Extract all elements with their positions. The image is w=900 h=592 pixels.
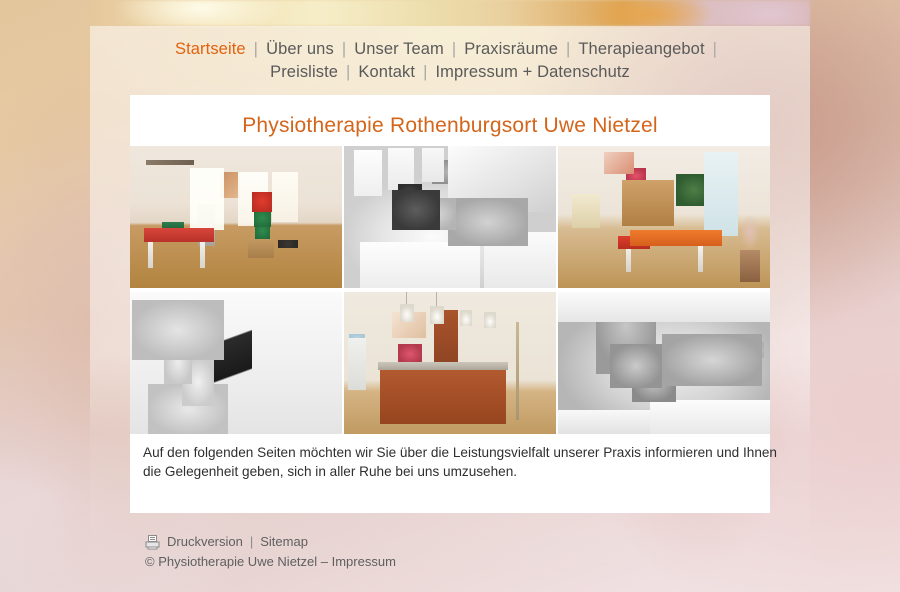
photo-gallery [130,146,770,438]
nav-row-secondary: Preisliste|Kontakt|Impressum + Datenschu… [90,61,810,84]
treatment-room-photo [130,146,342,288]
nav-separator: | [246,40,266,58]
nav-item-therapieangebot[interactable]: Therapieangebot [578,40,704,58]
nail-file-photo [130,292,342,434]
nav-item-kontakt[interactable]: Kontakt [358,63,415,81]
reception-desk-photo [344,292,556,434]
nav-item-startseite[interactable]: Startseite [175,40,246,58]
site-footer: Druckversion | Sitemap © Physiotherapie … [145,532,645,571]
printer-icon [145,535,160,550]
content-panel: Physiotherapie Rothenburgsort Uwe Nietze… [130,95,770,513]
nav-separator: | [705,40,725,58]
main-navigation: Startseite|Über uns|Unser Team|Praxisräu… [90,26,810,84]
nav-item-praxisraeume[interactable]: Praxisräume [464,40,558,58]
nav-separator: | [334,40,354,58]
back-massage-photo [344,146,556,288]
footer-links-row: Druckversion | Sitemap [145,532,645,552]
practice-room-photo [558,146,770,288]
nav-item-ueber-uns[interactable]: Über uns [266,40,334,58]
nav-item-preisliste[interactable]: Preisliste [270,63,338,81]
page-title: Physiotherapie Rothenburgsort Uwe Nietze… [130,95,770,138]
nav-separator: | [415,63,435,81]
nav-row-primary: Startseite|Über uns|Unser Team|Praxisräu… [90,38,810,61]
nav-separator: | [558,40,578,58]
druckversion-link[interactable]: Druckversion [167,533,243,551]
nav-item-unser-team[interactable]: Unser Team [354,40,444,58]
nav-item-impressum-datenschutz[interactable]: Impressum + Datenschutz [435,63,629,81]
nav-separator: | [444,40,464,58]
sitemap-link[interactable]: Sitemap [260,533,308,551]
foot-massage-photo [558,292,770,434]
top-banner-image [90,0,810,26]
footer-separator: | [250,533,253,551]
nav-separator: | [338,63,358,81]
intro-paragraph: Auf den folgenden Seiten möchten wir Sie… [143,443,779,481]
site-column: Startseite|Über uns|Unser Team|Praxisräu… [90,26,810,592]
copyright-line: © Physiotherapie Uwe Nietzel – Impressum [145,552,645,571]
